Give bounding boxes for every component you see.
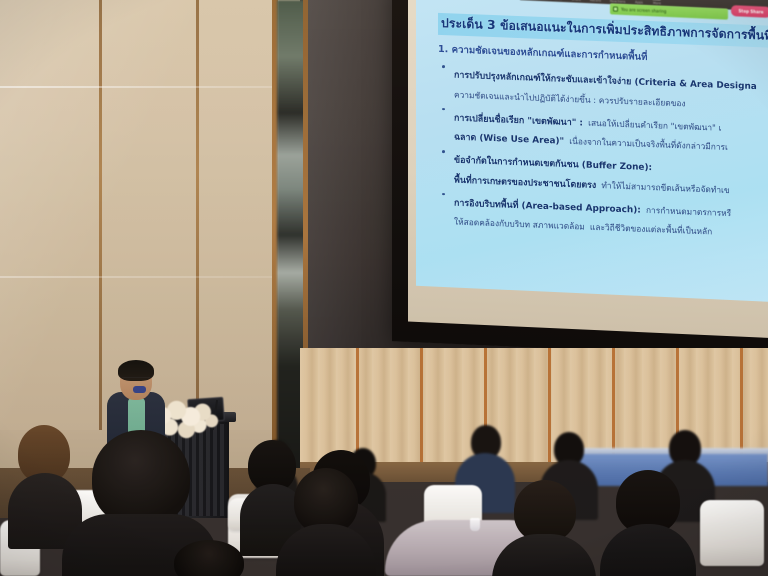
audience-member <box>600 470 696 576</box>
bullet-lead-text: การอิงบริบทพื้นที่ (Area-based Approach)… <box>454 198 641 215</box>
bullet-lead-text: การปรับปรุงหลักเกณฑ์ให้กระชับและเข้าใจง่… <box>454 71 757 93</box>
back-wall-dark-highlight <box>308 0 368 350</box>
audience-member <box>152 540 262 576</box>
share-status-text: You are screen sharing <box>621 7 666 14</box>
check-icon <box>613 6 618 11</box>
face-mask <box>133 386 146 393</box>
audience-member <box>492 480 596 576</box>
bullet-body-text: การกำหนดมาตรการหรื <box>646 204 731 217</box>
slide-bullet-list: การปรับปรุงหลักเกณฑ์ให้กระชับและเข้าใจง่… <box>438 62 768 241</box>
toolbar-label: Chat <box>555 0 562 1</box>
conference-photo: ประเด็น 3 ข้อเสนอแนะในการเพิ่มประสิทธิภา… <box>0 0 768 576</box>
bullet-lead-text: การเปลี่ยนชื่อเรียก "เขตพัฒนา" : <box>454 113 583 128</box>
toolbar-chat-button[interactable]: Chat <box>554 0 563 1</box>
bullet-dot-icon <box>442 108 445 111</box>
stop-share-label: Stop Share <box>739 8 764 14</box>
bullet-body-text: ทำให้ไม่สามารถขีดเส้นหรือจัดทำเข <box>601 180 729 195</box>
bullet-lead-text: ให้สอดคล้องกับบริบท สภาพแวดล้อม <box>454 217 585 232</box>
wall-panel-seam <box>196 0 199 430</box>
audience-member <box>276 468 376 576</box>
bullet-body-text: และวิถีชีวิตของแต่ละพื้นที่เป็นหลัก <box>590 222 712 237</box>
bullet-lead-text: ฉลาด (Wise Use Area)" <box>454 133 564 147</box>
toolbar-record-button[interactable]: Record <box>590 0 601 3</box>
slide-bullet-item: การอิงบริบทพื้นที่ (Area-based Approach)… <box>438 189 768 241</box>
eyeglasses-icon <box>122 377 150 382</box>
presentation-slide: ประเด็น 3 ข้อเสนอแนะในการเพิ่มประสิทธิภา… <box>416 0 768 302</box>
bullet-lead-text: ข้อจำกัดในการกำหนดเขตกันชน (Buffer Zone)… <box>454 156 652 174</box>
toolbar-share-button[interactable]: Share <box>572 0 581 2</box>
bullet-dot-icon <box>442 150 445 153</box>
toolbar-label: Share <box>572 0 581 2</box>
wall-panel-seam <box>0 276 300 278</box>
toolbar-label: Record <box>590 0 601 3</box>
wall-panel-seam <box>99 0 102 430</box>
stop-share-button[interactable]: Stop Share <box>731 5 768 18</box>
wall-panel-seam <box>0 86 300 88</box>
bullet-lead-text: พื้นที่การเกษตรของประชาชนโดยตรง <box>454 175 596 190</box>
bullet-body-text: เนื่องจากในความเป็นจริงพื้นที่ดังกล่าวมี… <box>569 136 728 152</box>
bullet-dot-icon <box>442 65 445 68</box>
bullet-body-text: ความชัดเจนและนำไปปฏิบัติได้ง่ายขึ้น : คว… <box>454 89 686 108</box>
bullet-body-text: เสนอให้เปลี่ยนคำเรียก "เขตพัฒนา" เ <box>588 117 721 132</box>
banquet-chair <box>700 500 764 566</box>
bullet-dot-icon <box>442 193 445 196</box>
drinking-glass <box>470 518 480 531</box>
